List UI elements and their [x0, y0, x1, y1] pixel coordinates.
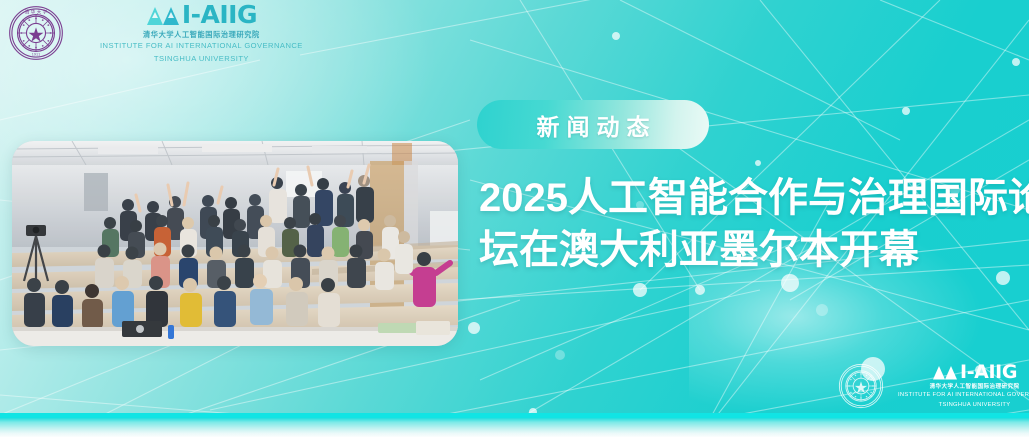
header-logo-en-line2: TSINGHUA UNIVERSITY	[154, 54, 249, 64]
header-logo-wordmark: I-AIIG	[182, 2, 257, 27]
header-logo-text: I-AIIG 清华大学人工智能国际治理研究院 INSTITUTE FOR AI …	[100, 2, 303, 64]
footer-aiig-mountain-mark-icon	[932, 363, 958, 381]
tsinghua-seal-icon: 清 华 大 学 1911	[8, 5, 64, 61]
footer-logo-text: I-AIIG 清华大学人工智能国际治理研究院 INSTITUTE FOR AI …	[898, 363, 1029, 410]
page-title: 2025人工智能合作与治理国际论 坛在澳大利亚墨尔本开幕	[479, 172, 1024, 276]
footer-logo-en-line2: TSINGHUA UNIVERSITY	[939, 402, 1011, 410]
news-category-badge[interactable]: 新闻动态	[477, 100, 709, 149]
footer-logo-wordmark: I-AIIG	[960, 363, 1017, 382]
group-photo-image	[12, 141, 458, 346]
header-logo-cn-name: 清华大学人工智能国际治理研究院	[143, 31, 260, 38]
group-photo[interactable]	[12, 141, 458, 346]
footer-logo-en-line1: INSTITUTE FOR AI INTERNATIONAL GOVERNANC…	[898, 392, 1029, 400]
page-title-line-1: 2025人工智能合作与治理国际论	[479, 172, 1024, 224]
footer-tsinghua-seal-icon	[838, 363, 884, 409]
news-banner: 清 华 大 学 1911 I-AIIG	[0, 0, 1029, 437]
page-title-line-2: 坛在澳大利亚墨尔本开幕	[479, 224, 1024, 276]
bottom-fade-strip	[0, 418, 1029, 437]
footer-logo-lockup[interactable]: I-AIIG 清华大学人工智能国际治理研究院 INSTITUTE FOR AI …	[838, 360, 1029, 412]
svg-text:1911: 1911	[32, 52, 41, 56]
news-category-label: 新闻动态	[530, 108, 657, 142]
footer-logo-cn-name: 清华大学人工智能国际治理研究院	[930, 385, 1020, 391]
header-logo-lockup[interactable]: 清 华 大 学 1911 I-AIIG	[8, 2, 303, 64]
aiig-mountain-mark-icon	[146, 3, 180, 27]
header-logo-en-line1: INSTITUTE FOR AI INTERNATIONAL GOVERNANC…	[100, 41, 303, 51]
